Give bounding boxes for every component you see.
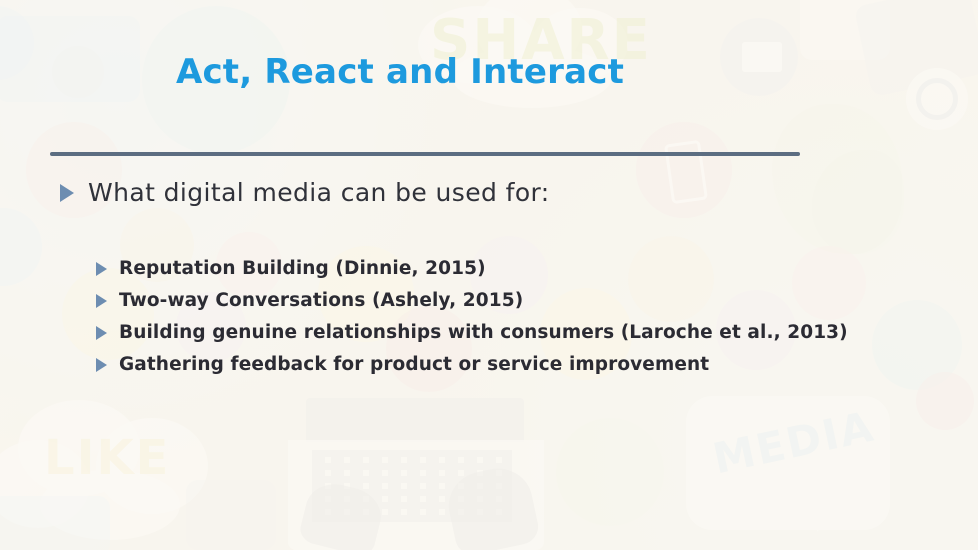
sub-bullet-list: Reputation Building (Dinnie, 2015) Two-w… [96,258,848,375]
sub-bullet-text: Gathering feedback for product or servic… [119,354,709,375]
slide-content: Act, React and Interact What digital med… [0,0,978,550]
lead-bullet-text: What digital media can be used for: [88,178,550,207]
sub-bullet-text: Building genuine relationships with cons… [119,322,848,343]
triangle-bullet-icon [96,294,107,308]
presentation-slide: SHARE [0,0,978,550]
triangle-bullet-icon [96,358,107,372]
list-item: Reputation Building (Dinnie, 2015) [96,258,848,279]
slide-title: Act, React and Interact [0,52,800,92]
triangle-bullet-icon [96,326,107,340]
list-item: Gathering feedback for product or servic… [96,354,848,375]
sub-bullet-text: Reputation Building (Dinnie, 2015) [119,258,486,279]
lead-bullet-item: What digital media can be used for: [60,178,550,207]
triangle-bullet-icon [96,262,107,276]
title-divider [50,152,800,156]
triangle-bullet-icon [60,184,74,202]
list-item: Two-way Conversations (Ashely, 2015) [96,290,848,311]
sub-bullet-text: Two-way Conversations (Ashely, 2015) [119,290,523,311]
list-item: Building genuine relationships with cons… [96,322,848,343]
